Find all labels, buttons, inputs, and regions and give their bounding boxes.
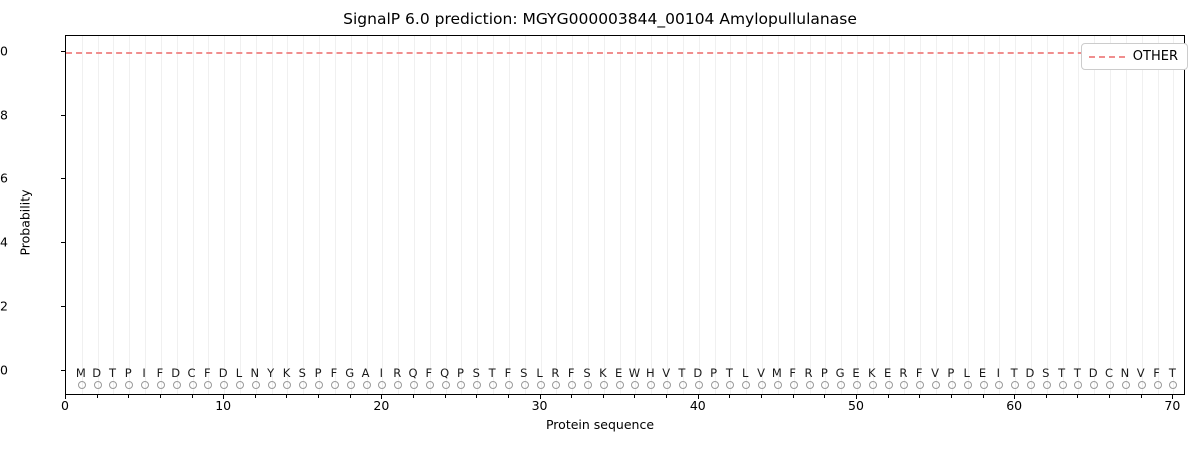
residue-letter: R xyxy=(899,365,907,381)
residue-letter: T xyxy=(1011,365,1018,381)
gridline-vertical xyxy=(889,36,890,394)
y-axis-tick-mark xyxy=(61,370,65,371)
gridline-vertical xyxy=(430,36,431,394)
gridline-vertical xyxy=(525,36,526,394)
residue-letter: E xyxy=(852,365,859,381)
x-axis-minor-tick xyxy=(1109,395,1110,398)
residue-letter: F xyxy=(568,365,575,381)
gridline-vertical xyxy=(129,36,130,394)
gridline-vertical xyxy=(968,36,969,394)
residue-letter: F xyxy=(505,365,512,381)
residue-letter: S xyxy=(299,365,306,381)
gridline-vertical xyxy=(572,36,573,394)
residue-letter: K xyxy=(599,365,607,381)
residue-letter: L xyxy=(742,365,748,381)
x-axis-minor-tick xyxy=(793,395,794,398)
gridline-vertical xyxy=(936,36,937,394)
x-axis-minor-tick xyxy=(508,395,509,398)
gridline-vertical xyxy=(778,36,779,394)
residue-letter: P xyxy=(947,365,954,381)
gridline-vertical xyxy=(351,36,352,394)
gridline-vertical xyxy=(873,36,874,394)
residue-letter: D xyxy=(219,365,228,381)
x-axis-tick-label: 50 xyxy=(848,398,864,413)
residue-letter: Y xyxy=(267,365,274,381)
gridline-vertical xyxy=(145,36,146,394)
gridline-vertical xyxy=(1094,36,1095,394)
x-axis-minor-tick xyxy=(97,395,98,398)
x-axis-minor-tick xyxy=(476,395,477,398)
residue-letter: K xyxy=(283,365,291,381)
residue-letter: D xyxy=(92,365,101,381)
y-axis-tick-label: 0.2 xyxy=(0,298,8,313)
gridline-vertical xyxy=(984,36,985,394)
other-probability-line xyxy=(66,52,1184,54)
gridline-vertical xyxy=(1078,36,1079,394)
residue-letter: R xyxy=(551,365,559,381)
gridline-vertical xyxy=(920,36,921,394)
x-axis-label: Protein sequence xyxy=(0,417,1200,432)
gridline-vertical xyxy=(620,36,621,394)
gridline-vertical xyxy=(715,36,716,394)
x-axis-minor-tick xyxy=(192,395,193,398)
residue-letter: S xyxy=(583,365,590,381)
residue-letter: T xyxy=(678,365,685,381)
x-axis-tick-label: 70 xyxy=(1164,398,1180,413)
gridline-vertical xyxy=(635,36,636,394)
residue-letter: E xyxy=(615,365,622,381)
gridline-vertical xyxy=(319,36,320,394)
gridline-vertical xyxy=(367,36,368,394)
residue-letter: L xyxy=(536,365,542,381)
residue-letter: T xyxy=(109,365,116,381)
legend-swatch-other-icon xyxy=(1089,56,1125,58)
gridline-vertical xyxy=(1142,36,1143,394)
gridline-vertical xyxy=(1110,36,1111,394)
residue-letter: C xyxy=(188,365,196,381)
gridline-vertical xyxy=(1015,36,1016,394)
x-axis-minor-tick xyxy=(983,395,984,398)
residue-letter: L xyxy=(236,365,242,381)
gridline-vertical xyxy=(1158,36,1159,394)
residue-letter: F xyxy=(426,365,433,381)
x-axis-tick-label: 10 xyxy=(215,398,231,413)
residue-sequence-labels: MDTPIFDCFDLNYKSPFGAIRQFQPSTFSLRFSKEWHVTD… xyxy=(65,365,1185,383)
residue-letter: F xyxy=(157,365,164,381)
y-axis-tick-label: 0.6 xyxy=(0,171,8,186)
y-axis-tick-mark xyxy=(61,115,65,116)
gridline-vertical xyxy=(1047,36,1048,394)
residue-letter: V xyxy=(662,365,670,381)
gridline-vertical xyxy=(240,36,241,394)
x-axis-minor-tick xyxy=(824,395,825,398)
gridline-vertical xyxy=(952,36,953,394)
residue-letter: A xyxy=(362,365,370,381)
gridline-vertical xyxy=(414,36,415,394)
gridline-vertical xyxy=(588,36,589,394)
residue-letter: N xyxy=(251,365,260,381)
residue-letter: F xyxy=(916,365,923,381)
x-axis-minor-tick xyxy=(603,395,604,398)
gridline-vertical xyxy=(825,36,826,394)
gridline-vertical xyxy=(461,36,462,394)
residue-letter: L xyxy=(963,365,969,381)
residue-letter: T xyxy=(1058,365,1065,381)
gridline-vertical xyxy=(794,36,795,394)
x-axis-minor-tick xyxy=(445,395,446,398)
gridline-vertical xyxy=(335,36,336,394)
y-axis-tick-mark xyxy=(61,242,65,243)
gridline-vertical xyxy=(303,36,304,394)
residue-letter: Q xyxy=(440,365,449,381)
gridline-vertical xyxy=(762,36,763,394)
x-axis-minor-tick xyxy=(1046,395,1047,398)
y-axis-label: Probability xyxy=(18,123,33,323)
gridline-vertical xyxy=(161,36,162,394)
gridline-vertical xyxy=(904,36,905,394)
gridline-vertical xyxy=(683,36,684,394)
gridline-vertical xyxy=(193,36,194,394)
gridline-vertical xyxy=(667,36,668,394)
gridline-vertical xyxy=(1173,36,1174,394)
gridline-vertical xyxy=(398,36,399,394)
residue-letter: D xyxy=(693,365,702,381)
residue-letter: S xyxy=(520,365,527,381)
y-axis-tick-mark xyxy=(61,178,65,179)
gridline-vertical xyxy=(746,36,747,394)
y-axis-tick-label: 1.0 xyxy=(0,43,8,58)
gridline-vertical xyxy=(272,36,273,394)
x-axis-minor-tick xyxy=(1077,395,1078,398)
residue-letter: I xyxy=(142,365,145,381)
x-axis-minor-tick xyxy=(888,395,889,398)
y-axis-tick-mark xyxy=(61,51,65,52)
y-axis-tick-label: 0.4 xyxy=(0,235,8,250)
gridline-vertical xyxy=(1031,36,1032,394)
x-axis-tick-label: 20 xyxy=(373,398,389,413)
y-axis-tick-label: 0.0 xyxy=(0,362,8,377)
residue-letter: M xyxy=(76,365,86,381)
x-axis-minor-tick xyxy=(286,395,287,398)
gridline-vertical xyxy=(477,36,478,394)
x-axis-minor-tick xyxy=(350,395,351,398)
gridline-vertical xyxy=(999,36,1000,394)
residue-letter: E xyxy=(979,365,986,381)
residue-letter: D xyxy=(1089,365,1098,381)
gridline-vertical xyxy=(699,36,700,394)
x-axis-tick-label: 30 xyxy=(532,398,548,413)
x-axis-minor-tick xyxy=(318,395,319,398)
x-axis-minor-tick xyxy=(634,395,635,398)
gridline-vertical xyxy=(177,36,178,394)
residue-letter: N xyxy=(1121,365,1130,381)
residue-letter: P xyxy=(125,365,132,381)
gridline-vertical xyxy=(287,36,288,394)
residue-letter: T xyxy=(489,365,496,381)
gridline-vertical xyxy=(224,36,225,394)
x-axis-minor-tick xyxy=(255,395,256,398)
residue-letter: W xyxy=(629,365,640,381)
residue-letter: H xyxy=(646,365,655,381)
residue-letter: F xyxy=(331,365,338,381)
y-axis-tick-label: 0.8 xyxy=(0,107,8,122)
residue-letter: E xyxy=(884,365,891,381)
gridline-vertical xyxy=(604,36,605,394)
residue-letter: V xyxy=(931,365,939,381)
residue-letter: S xyxy=(473,365,480,381)
gridline-vertical xyxy=(382,36,383,394)
x-axis-minor-tick xyxy=(1141,395,1142,398)
residue-letter: K xyxy=(868,365,876,381)
x-axis-tick-label: 40 xyxy=(690,398,706,413)
gridline-vertical xyxy=(256,36,257,394)
x-axis-minor-tick xyxy=(128,395,129,398)
residue-letter: G xyxy=(345,365,354,381)
gridline-vertical xyxy=(509,36,510,394)
x-axis-tick-label: 60 xyxy=(1006,398,1022,413)
residue-letter: P xyxy=(821,365,828,381)
residue-letter: T xyxy=(1169,365,1176,381)
residue-letter: P xyxy=(315,365,322,381)
gridline-vertical xyxy=(446,36,447,394)
signalp-prediction-figure: SignalP 6.0 prediction: MGYG000003844_00… xyxy=(0,0,1200,450)
gridline-vertical xyxy=(810,36,811,394)
residue-letter: I xyxy=(380,365,383,381)
gridlines xyxy=(66,36,1184,394)
gridline-vertical xyxy=(1126,36,1127,394)
residue-letter: G xyxy=(836,365,845,381)
gridline-vertical xyxy=(651,36,652,394)
residue-letter: F xyxy=(1153,365,1160,381)
gridline-vertical xyxy=(541,36,542,394)
residue-letter: P xyxy=(457,365,464,381)
gridline-vertical xyxy=(493,36,494,394)
gridline-vertical xyxy=(556,36,557,394)
x-axis-minor-tick xyxy=(729,395,730,398)
gridline-vertical xyxy=(841,36,842,394)
gridline-vertical xyxy=(730,36,731,394)
x-axis-minor-tick xyxy=(919,395,920,398)
residue-letter: V xyxy=(1137,365,1145,381)
x-axis-minor-tick xyxy=(761,395,762,398)
residue-letter: I xyxy=(997,365,1000,381)
residue-letter: T xyxy=(1074,365,1081,381)
gridline-vertical xyxy=(208,36,209,394)
plot-area xyxy=(65,35,1185,395)
residue-letter: Q xyxy=(408,365,417,381)
residue-letter: F xyxy=(789,365,796,381)
legend: OTHER xyxy=(1081,43,1188,70)
gridline-vertical xyxy=(113,36,114,394)
x-axis-minor-tick xyxy=(160,395,161,398)
page-title: SignalP 6.0 prediction: MGYG000003844_00… xyxy=(0,10,1200,28)
gridline-vertical xyxy=(82,36,83,394)
residue-letter: C xyxy=(1105,365,1113,381)
residue-letter: M xyxy=(772,365,782,381)
x-axis-minor-tick xyxy=(666,395,667,398)
x-axis-minor-tick xyxy=(413,395,414,398)
residue-letter: T xyxy=(726,365,733,381)
residue-letter: R xyxy=(393,365,401,381)
residue-letter: R xyxy=(805,365,813,381)
gridline-vertical xyxy=(98,36,99,394)
residue-letter: S xyxy=(1042,365,1049,381)
residue-letter: V xyxy=(757,365,765,381)
x-axis-minor-tick xyxy=(571,395,572,398)
residue-letter: F xyxy=(204,365,211,381)
residue-letter: D xyxy=(1026,365,1035,381)
residue-letter: P xyxy=(710,365,717,381)
legend-label-other: OTHER xyxy=(1133,49,1178,64)
residue-letter: D xyxy=(171,365,180,381)
x-axis-tick-label: 0 xyxy=(61,398,69,413)
x-axis-minor-tick xyxy=(951,395,952,398)
y-axis-tick-mark xyxy=(61,306,65,307)
gridline-vertical xyxy=(857,36,858,394)
gridline-vertical xyxy=(1063,36,1064,394)
